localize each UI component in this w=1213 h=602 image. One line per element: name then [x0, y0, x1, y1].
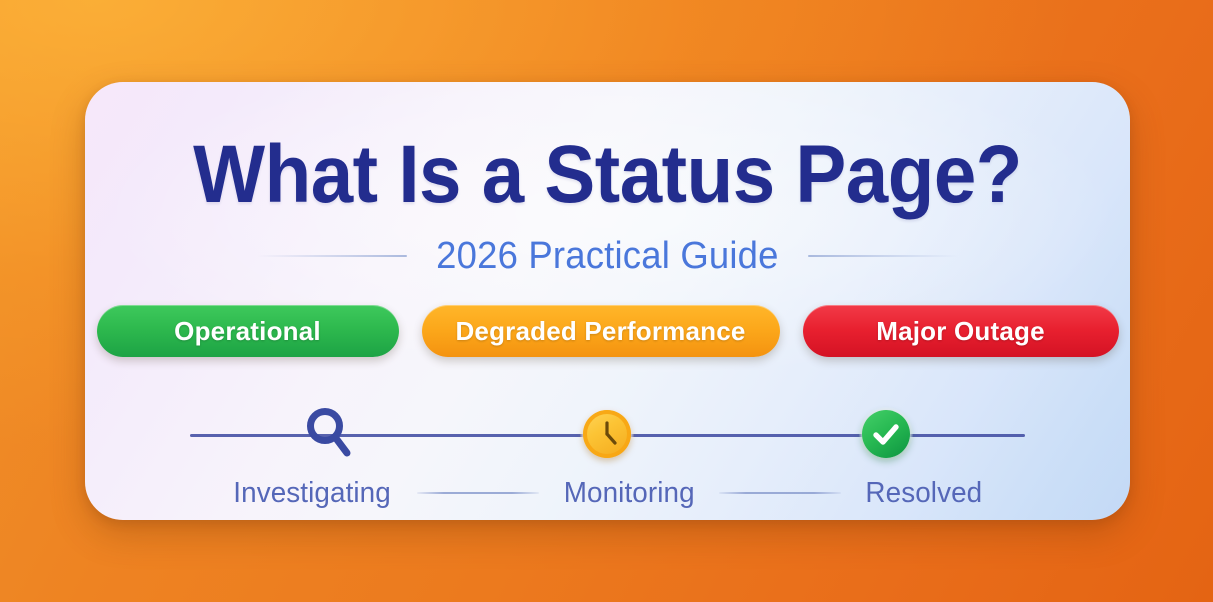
status-badge-degraded-performance[interactable]: Degraded Performance	[422, 305, 780, 357]
page-subtitle: 2026 Practical Guide	[436, 235, 778, 278]
status-page-card: What Is a Status Page? 2026 Practical Gu…	[85, 82, 1130, 520]
check-mark-icon	[869, 417, 903, 451]
timeline-step-resolved[interactable]	[854, 400, 918, 468]
timeline-label-investigating: Investigating	[234, 477, 392, 510]
timeline-step-monitoring[interactable]	[575, 400, 639, 468]
timeline-label-rule-2	[719, 492, 841, 494]
monitoring-icon-pad	[579, 406, 635, 462]
status-badge-row: Operational Degraded Performance Major O…	[85, 305, 1130, 357]
clock-hands-icon	[587, 414, 627, 454]
magnifying-glass-icon	[303, 405, 355, 461]
subtitle-row: 2026 Practical Guide	[85, 234, 1130, 278]
resolved-icon-pad	[858, 406, 914, 462]
page-title: What Is a Status Page?	[122, 134, 1094, 216]
clock-icon	[583, 410, 631, 458]
timeline-node-row	[190, 400, 1025, 472]
subtitle-rule-right	[808, 255, 958, 257]
timeline-label-monitoring: Monitoring	[563, 477, 694, 510]
subtitle-rule-left	[257, 255, 407, 257]
timeline-step-investigating[interactable]	[297, 400, 361, 468]
check-circle-icon	[862, 410, 910, 458]
incident-timeline: Investigating Monitoring Resolved	[190, 400, 1025, 500]
poster-canvas: What Is a Status Page? 2026 Practical Gu…	[0, 0, 1213, 602]
card-content: What Is a Status Page? 2026 Practical Gu…	[85, 82, 1130, 520]
timeline-label-rule-1	[417, 492, 539, 494]
investigating-icon-pad	[301, 406, 357, 462]
timeline-label-resolved: Resolved	[865, 477, 982, 510]
timeline-label-row: Investigating Monitoring Resolved	[190, 476, 1025, 510]
status-badge-major-outage[interactable]: Major Outage	[803, 305, 1119, 357]
status-badge-operational[interactable]: Operational	[97, 305, 399, 357]
